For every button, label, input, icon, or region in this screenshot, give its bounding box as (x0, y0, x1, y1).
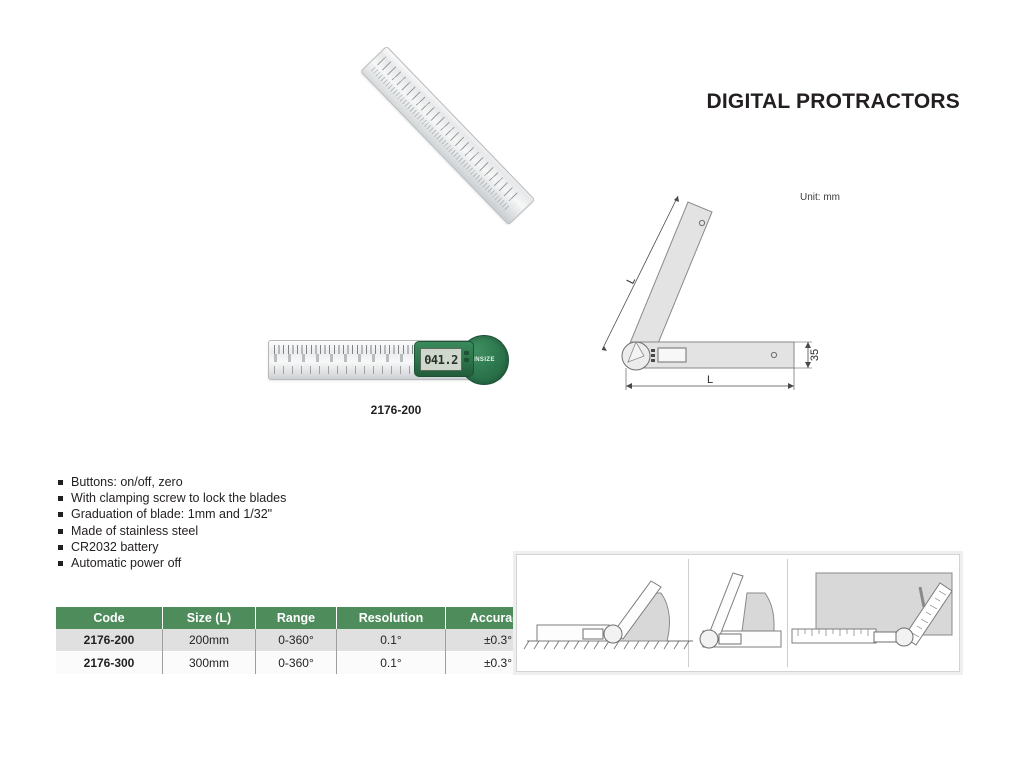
lcd-screen: 041.2 (420, 348, 462, 371)
drawing-lower-arm (632, 342, 794, 368)
table-header-row: Code Size (L) Range Resolution Accuracy (56, 607, 550, 629)
list-item: CR2032 battery (58, 539, 478, 555)
drawing-lcd (658, 348, 686, 362)
brand-logo: INSIZE (473, 357, 495, 363)
page-title: DIGITAL PROTRACTORS (707, 90, 960, 114)
table-row: 2176-200 200mm 0-360° 0.1° ±0.3° (56, 629, 550, 652)
bullet-icon (58, 545, 63, 550)
zero-button-icon (464, 358, 469, 362)
list-item: Automatic power off (58, 555, 478, 571)
application-3-svg (788, 559, 966, 667)
application-1-lcd (583, 629, 603, 639)
application-3-hub (895, 628, 913, 646)
feature-text: Made of stainless steel (71, 523, 198, 539)
feature-list: Buttons: on/off, zero With clamping scre… (58, 474, 478, 571)
specification-table: Code Size (L) Range Resolution Accuracy … (56, 607, 550, 674)
column-header-resolution: Resolution (337, 607, 446, 629)
drawing-upper-arm (628, 202, 712, 358)
application-example-2 (689, 559, 788, 667)
application-3-lower-blade (792, 629, 876, 643)
column-header-range: Range (256, 607, 337, 629)
feature-text: Automatic power off (71, 555, 181, 571)
protractor-upper-blade (360, 46, 535, 226)
application-1-svg (521, 559, 699, 667)
bullet-icon (58, 480, 63, 485)
cell-code: 2176-300 (56, 652, 163, 675)
upper-blade-graduations-metric (377, 56, 522, 205)
lcd-housing: 041.2 (414, 341, 474, 377)
cell-size: 200mm (163, 629, 256, 652)
cell-range: 0-360° (256, 629, 337, 652)
cell-range: 0-360° (256, 652, 337, 675)
protractor-illustration: INSIZE 041.2 (262, 198, 530, 398)
dim-label-height: 35 (809, 349, 821, 361)
bullet-icon (58, 561, 63, 566)
feature-text: Buttons: on/off, zero (71, 474, 183, 490)
cell-size: 300mm (163, 652, 256, 675)
application-3-lcd (874, 632, 896, 642)
column-header-size: Size (L) (163, 607, 256, 629)
column-header-code: Code (56, 607, 163, 629)
feature-text: With clamping screw to lock the blades (71, 490, 286, 506)
product-photo: INSIZE 041.2 2176-200 (262, 198, 530, 398)
application-examples-panel (516, 554, 960, 672)
table-row: 2176-300 300mm 0-360° 0.1° ±0.3° (56, 652, 550, 675)
list-item: With clamping screw to lock the blades (58, 490, 478, 506)
dim-label-lower-arm: L (707, 374, 713, 386)
application-2-svg (689, 559, 793, 667)
feature-text: Graduation of blade: 1mm and 1/32" (71, 506, 272, 522)
bullet-icon (58, 496, 63, 501)
dim-label-upper-arm: L (625, 275, 638, 286)
application-2-hub (700, 630, 718, 648)
bullet-icon (58, 529, 63, 534)
application-example-3 (788, 559, 955, 667)
lcd-reading: 041.2 (424, 353, 458, 367)
feature-text: CR2032 battery (71, 539, 159, 555)
cell-resolution: 0.1° (337, 652, 446, 675)
cell-resolution: 0.1° (337, 629, 446, 652)
upper-blade-graduations-imperial (371, 67, 511, 212)
drawing-buttons (651, 349, 655, 362)
technical-drawing-svg: L L 35 (596, 190, 856, 400)
product-code-caption: 2176-200 (262, 403, 530, 417)
list-item: Graduation of blade: 1mm and 1/32" (58, 506, 478, 522)
application-example-1 (521, 559, 689, 667)
control-buttons (464, 351, 469, 362)
bullet-icon (58, 512, 63, 517)
list-item: Made of stainless steel (58, 523, 478, 539)
cell-code: 2176-200 (56, 629, 163, 652)
application-2-lcd (719, 634, 741, 644)
power-button-icon (464, 351, 469, 355)
technical-drawing: Unit: mm L (596, 190, 856, 400)
list-item: Buttons: on/off, zero (58, 474, 478, 490)
application-1-hub (604, 625, 622, 643)
